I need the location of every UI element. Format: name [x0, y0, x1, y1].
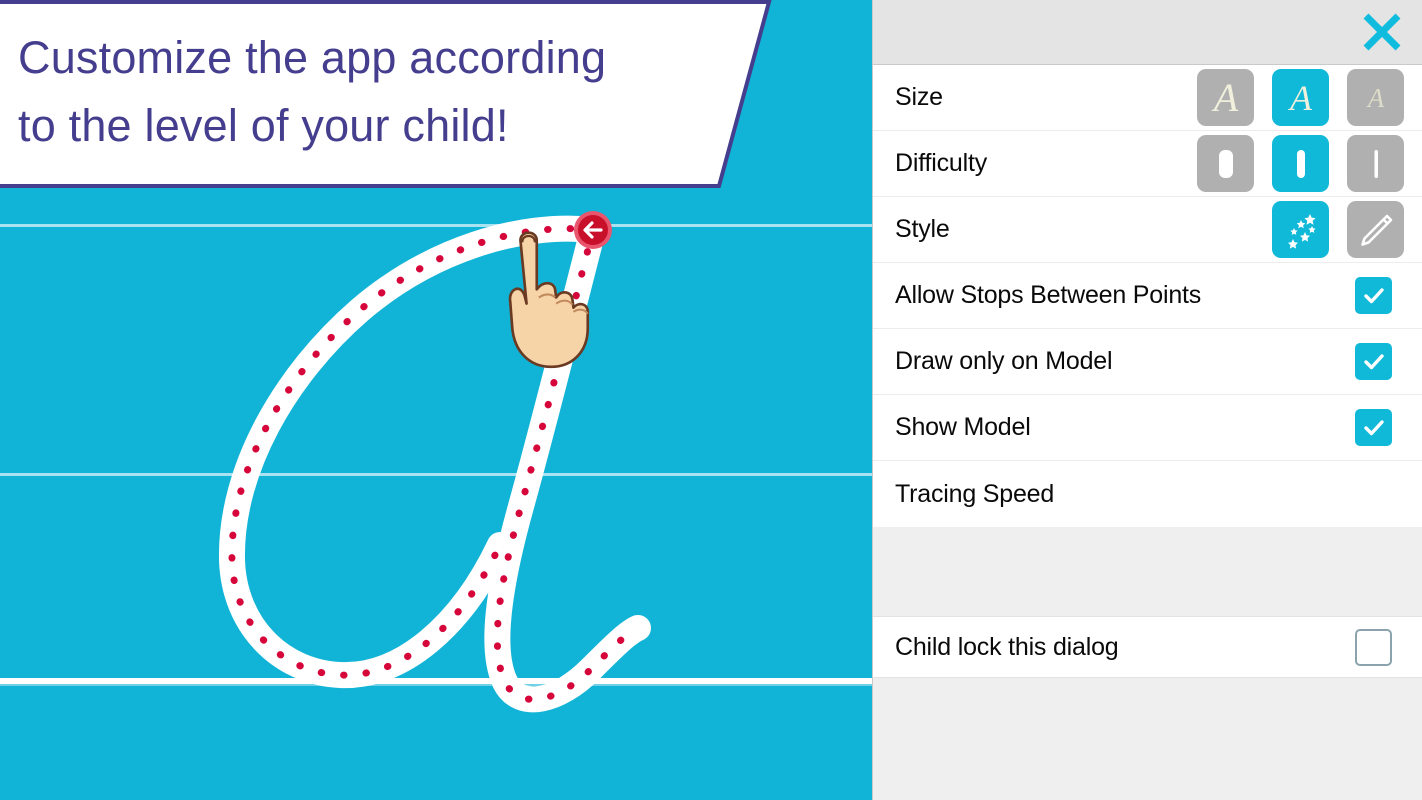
panel-gap-lower: [873, 678, 1422, 798]
difficulty-option-medium[interactable]: [1272, 135, 1329, 192]
banner-line-2: to the level of your child!: [18, 92, 718, 160]
size-option-group: A A A: [1179, 65, 1422, 130]
panel-gap-upper: [873, 527, 1422, 616]
setting-row-show-model[interactable]: Show Model: [873, 395, 1422, 461]
setting-row-difficulty: Difficulty: [873, 131, 1422, 197]
svg-text:A: A: [1288, 78, 1313, 118]
stars-icon: [1279, 208, 1323, 252]
setting-row-style: Style: [873, 197, 1422, 263]
setting-label-draw-only-on-model: Draw only on Model: [873, 347, 1112, 376]
setting-label-tracing-speed: Tracing Speed: [873, 480, 1054, 509]
letter-a-large-icon: A: [1204, 76, 1248, 120]
difficulty-option-hard[interactable]: [1347, 135, 1404, 192]
setting-label-size: Size: [873, 83, 943, 112]
allow-stops-control: [1355, 263, 1422, 328]
check-icon: [1361, 349, 1387, 375]
settings-rows: Size A A A: [873, 65, 1422, 527]
bar-thin-icon: [1354, 142, 1398, 186]
draw-only-on-model-control: [1355, 329, 1422, 394]
banner-text: Customize the app according to the level…: [18, 24, 718, 160]
size-option-small[interactable]: A: [1347, 69, 1404, 126]
difficulty-option-easy[interactable]: [1197, 135, 1254, 192]
svg-text:A: A: [1365, 83, 1384, 113]
style-option-pencil[interactable]: [1347, 201, 1404, 258]
letter-a-small-icon: A: [1354, 76, 1398, 120]
close-x-glyph: [1356, 6, 1408, 58]
child-lock-control: [1355, 617, 1422, 677]
letter-stroke-group: [232, 229, 638, 700]
panel-header: [873, 0, 1422, 65]
svg-text:A: A: [1210, 76, 1238, 120]
instruction-banner: Customize the app according to the level…: [0, 0, 774, 188]
letter-a-medium-icon: A: [1279, 76, 1323, 120]
checkbox-allow-stops[interactable]: [1355, 277, 1392, 314]
style-option-group: [1254, 197, 1422, 262]
bar-thick-icon: [1204, 142, 1248, 186]
setting-label-allow-stops: Allow Stops Between Points: [873, 281, 1201, 310]
checkbox-show-model[interactable]: [1355, 409, 1392, 446]
settings-panel: Size A A A: [872, 0, 1422, 800]
tracing-canvas[interactable]: Customize the app according to the level…: [0, 0, 872, 800]
checkbox-draw-only-on-model[interactable]: [1355, 343, 1392, 380]
setting-label-style: Style: [873, 215, 950, 244]
close-x-icon[interactable]: [1356, 6, 1408, 58]
bar-medium-icon: [1279, 142, 1323, 186]
pencil-icon: [1354, 208, 1398, 252]
show-model-control: [1355, 395, 1422, 460]
setting-row-size: Size A A A: [873, 65, 1422, 131]
start-marker-arrow-left-icon[interactable]: [574, 211, 612, 249]
setting-label-difficulty: Difficulty: [873, 149, 987, 178]
size-option-medium[interactable]: A: [1272, 69, 1329, 126]
style-option-stars[interactable]: [1272, 201, 1329, 258]
size-option-large[interactable]: A: [1197, 69, 1254, 126]
banner-line-1: Customize the app according: [18, 24, 718, 92]
check-icon: [1361, 415, 1387, 441]
setting-label-child-lock: Child lock this dialog: [873, 633, 1119, 662]
difficulty-option-group: [1179, 131, 1422, 196]
check-icon: [1361, 283, 1387, 309]
checkbox-child-lock[interactable]: [1355, 629, 1392, 666]
setting-row-tracing-speed: Tracing Speed: [873, 461, 1422, 527]
app-screen: Customize the app according to the level…: [0, 0, 1422, 800]
setting-row-draw-only-on-model[interactable]: Draw only on Model: [873, 329, 1422, 395]
setting-label-show-model: Show Model: [873, 413, 1031, 442]
setting-row-allow-stops[interactable]: Allow Stops Between Points: [873, 263, 1422, 329]
setting-row-child-lock[interactable]: Child lock this dialog: [873, 616, 1422, 678]
